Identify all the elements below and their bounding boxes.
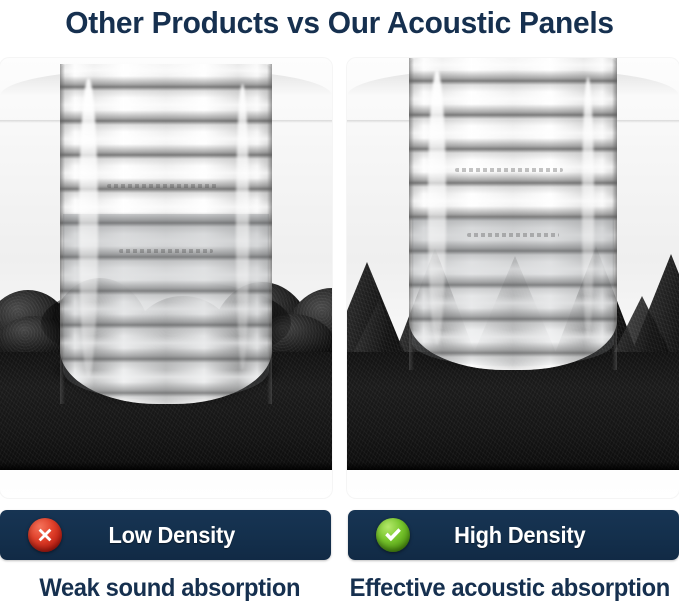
comparison-row bbox=[0, 58, 679, 498]
badge-high-density[interactable]: High Density bbox=[348, 510, 679, 560]
badge-label: High Density bbox=[417, 522, 673, 549]
check-circle-icon bbox=[376, 518, 410, 552]
water-bottle bbox=[60, 64, 272, 404]
bottle-printed-text bbox=[455, 168, 563, 172]
caption-row: Weak sound absorption Effective acoustic… bbox=[0, 566, 679, 614]
caption-high-density: Effective acoustic absorption bbox=[348, 566, 671, 614]
badge-label: Low Density bbox=[69, 522, 325, 549]
bottle-left-edge bbox=[60, 64, 65, 404]
bottle-highlight-right bbox=[582, 77, 594, 339]
bottle-highlight-left bbox=[79, 78, 98, 377]
bottle-right-edge bbox=[612, 58, 617, 370]
bottle-printed-text bbox=[107, 184, 217, 188]
badge-row: Low Density High Density bbox=[0, 510, 679, 560]
page-title: Other Products vs Our Acoustic Panels bbox=[12, 0, 667, 44]
cross-circle-icon bbox=[28, 518, 62, 552]
bottle-left-edge bbox=[409, 58, 414, 370]
bottle-printed-text bbox=[119, 249, 212, 253]
bottle-right-edge bbox=[267, 64, 272, 404]
badge-low-density[interactable]: Low Density bbox=[0, 510, 331, 560]
water-bottle bbox=[409, 58, 617, 370]
panel-other-products[interactable] bbox=[0, 58, 332, 498]
bottle-highlight-right bbox=[236, 84, 249, 370]
bottle-printed-text bbox=[467, 233, 559, 237]
panel-our-acoustic-panels[interactable] bbox=[347, 58, 679, 498]
caption-low-density: Weak sound absorption bbox=[8, 566, 331, 614]
